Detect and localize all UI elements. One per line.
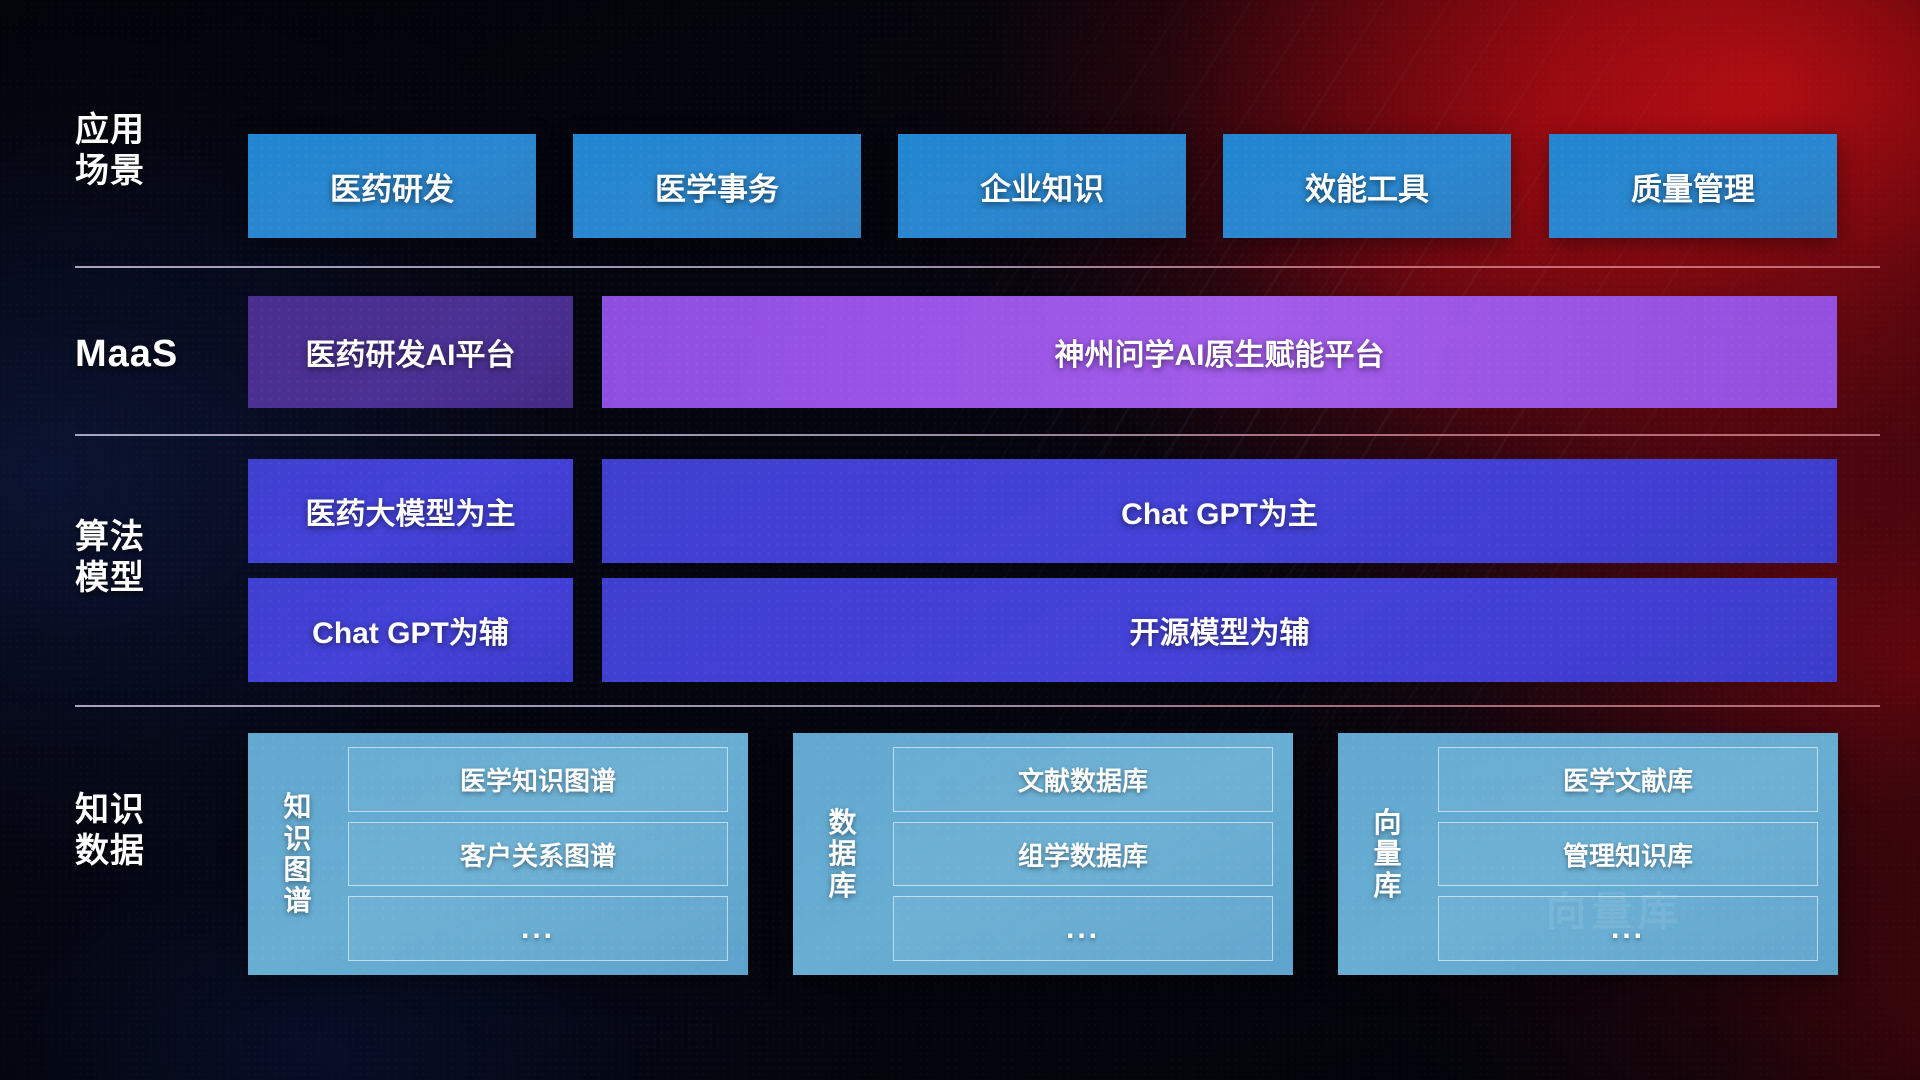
- scenario-box-efficiency-tools[interactable]: 效能工具: [1223, 134, 1511, 238]
- maas-box-shenzhou-wenxue-platform-label: 神州问学AI原生赋能平台: [1055, 330, 1385, 374]
- divider-after-algorithm-models: [75, 705, 1880, 707]
- kg-item-customer-relationship-graph[interactable]: 客户关系图谱: [348, 822, 728, 887]
- vs-item-management-knowledge-store[interactable]: 管理知识库: [1438, 822, 1818, 887]
- algo-box-pharma-llm-primary[interactable]: 医药大模型为主: [248, 459, 573, 563]
- vs-item-more-label: ...: [1611, 912, 1645, 946]
- knowledge-panel-vector-store-title: 向 量 库: [1352, 747, 1424, 961]
- db-title-char-3: 库: [828, 870, 857, 901]
- row-label-algo-line-1: 算法: [75, 517, 245, 558]
- db-title-char-2: 据: [828, 838, 857, 869]
- maas-box-drug-rnd-ai-platform[interactable]: 医药研发AI平台: [248, 296, 573, 408]
- scenario-box-drug-rnd[interactable]: 医药研发: [248, 134, 536, 238]
- knowledge-panel-knowledge-graph-title: 知 识 图 谱: [262, 747, 334, 961]
- scenario-box-quality-management-label: 质量管理: [1631, 164, 1755, 209]
- kg-item-medical-knowledge-graph[interactable]: 医学知识图谱: [348, 747, 728, 812]
- algo-box-opensource-secondary-label: 开源模型为辅: [1130, 608, 1310, 652]
- vs-item-management-knowledge-store-label: 管理知识库: [1563, 836, 1693, 873]
- algo-box-chatgpt-primary-label: Chat GPT为主: [1121, 489, 1318, 533]
- kg-item-more-label: ...: [521, 912, 555, 946]
- algo-box-chatgpt-secondary[interactable]: Chat GPT为辅: [248, 578, 573, 682]
- row-label-algo-line-2: 模型: [75, 558, 245, 599]
- db-item-omics-database-label: 组学数据库: [1018, 836, 1148, 873]
- knowledge-panel-database[interactable]: 数 据 库 文献数据库 组学数据库 ...: [793, 733, 1293, 975]
- divider-after-application-scenarios: [75, 266, 1880, 268]
- vs-item-more[interactable]: ...: [1438, 896, 1818, 961]
- scenario-box-medical-affairs-label: 医学事务: [655, 164, 779, 209]
- kg-title-char-1: 知: [283, 791, 312, 822]
- kg-title-char-3: 图: [283, 854, 312, 885]
- kg-item-customer-relationship-graph-label: 客户关系图谱: [460, 836, 616, 873]
- algo-box-chatgpt-secondary-label: Chat GPT为辅: [312, 608, 509, 652]
- db-title-char-1: 数: [828, 807, 857, 838]
- divider-after-maas: [75, 434, 1880, 436]
- vs-title-char-1: 向: [1373, 807, 1402, 838]
- db-item-literature-database[interactable]: 文献数据库: [893, 747, 1273, 812]
- vs-item-medical-literature-store[interactable]: 医学文献库: [1438, 747, 1818, 812]
- architecture-diagram: 应用 场景 医药研发 医学事务 企业知识 效能工具 质量管理 MaaS 医药研发…: [0, 0, 1920, 1080]
- knowledge-panel-database-items: 文献数据库 组学数据库 ...: [879, 747, 1277, 961]
- knowledge-panel-vector-store[interactable]: 向量库 向 量 库 医学文献库 管理知识库 ...: [1338, 733, 1838, 975]
- maas-box-drug-rnd-ai-platform-label: 医药研发AI平台: [306, 330, 516, 374]
- algo-box-chatgpt-primary[interactable]: Chat GPT为主: [602, 459, 1837, 563]
- knowledge-panel-knowledge-graph-items: 医学知识图谱 客户关系图谱 ...: [334, 747, 732, 961]
- kg-title-char-2: 识: [283, 823, 312, 854]
- knowledge-panel-knowledge-graph[interactable]: 知 识 图 谱 医学知识图谱 客户关系图谱 ...: [248, 733, 748, 975]
- db-item-omics-database[interactable]: 组学数据库: [893, 822, 1273, 887]
- db-item-more-label: ...: [1066, 912, 1100, 946]
- row-label-knowledge-line-1: 知识: [75, 790, 245, 831]
- scenario-box-quality-management[interactable]: 质量管理: [1549, 134, 1837, 238]
- vs-title-char-2: 量: [1373, 838, 1402, 869]
- scenario-box-efficiency-tools-label: 效能工具: [1305, 164, 1429, 209]
- row-label-maas: MaaS: [75, 332, 245, 378]
- kg-title-char-4: 谱: [283, 885, 312, 916]
- kg-item-medical-knowledge-graph-label: 医学知识图谱: [460, 761, 616, 798]
- row-label-knowledge-data: 知识 数据: [75, 790, 245, 872]
- knowledge-panel-database-title: 数 据 库: [807, 747, 879, 961]
- db-item-literature-database-label: 文献数据库: [1018, 761, 1148, 798]
- scenario-box-drug-rnd-label: 医药研发: [330, 164, 454, 209]
- maas-box-shenzhou-wenxue-platform[interactable]: 神州问学AI原生赋能平台: [602, 296, 1837, 408]
- row-label-knowledge-line-2: 数据: [75, 831, 245, 872]
- row-label-line-2: 场景: [75, 151, 245, 192]
- scenario-box-enterprise-knowledge[interactable]: 企业知识: [898, 134, 1186, 238]
- row-label-algorithm-models: 算法 模型: [75, 517, 245, 599]
- row-label-line-1: 应用: [75, 110, 245, 151]
- vs-title-char-3: 库: [1373, 870, 1402, 901]
- knowledge-panel-vector-store-items: 医学文献库 管理知识库 ...: [1424, 747, 1822, 961]
- scenario-box-medical-affairs[interactable]: 医学事务: [573, 134, 861, 238]
- row-label-application-scenarios: 应用 场景: [75, 110, 245, 192]
- kg-item-more[interactable]: ...: [348, 896, 728, 961]
- row-label-maas-text: MaaS: [75, 332, 245, 378]
- scenario-box-enterprise-knowledge-label: 企业知识: [980, 164, 1104, 209]
- vs-item-medical-literature-store-label: 医学文献库: [1563, 761, 1693, 798]
- algo-box-opensource-secondary[interactable]: 开源模型为辅: [602, 578, 1837, 682]
- db-item-more[interactable]: ...: [893, 896, 1273, 961]
- algo-box-pharma-llm-primary-label: 医药大模型为主: [306, 489, 516, 533]
